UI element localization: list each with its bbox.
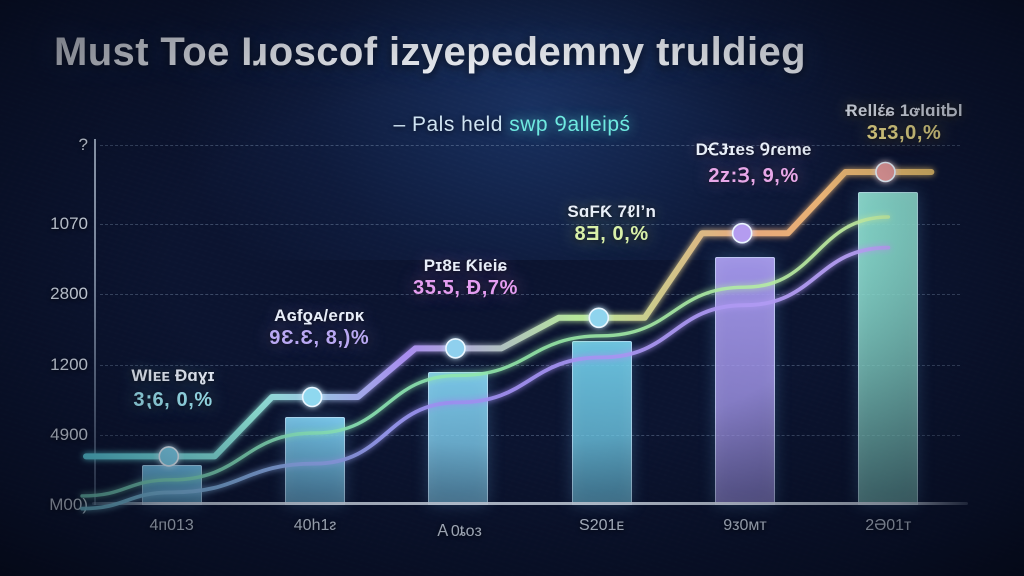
annotation-value: 3Ƽ.Ƽ, Ɖ,7% — [413, 277, 518, 300]
y-axis-tick-label: ? — [79, 135, 88, 155]
data-annotation: DꞒɈɪes Ꝯɾeme2ᴢ:Ɜ, 9,% — [696, 137, 812, 188]
data-point-marker[interactable] — [876, 163, 895, 182]
chart-subtitle: – Pals held swp Ꝯalleipś — [0, 110, 1024, 138]
x-axis-tick-label: Ａ0ȶoᴈ — [435, 517, 482, 541]
data-point-marker[interactable] — [733, 224, 752, 243]
data-point-marker[interactable] — [303, 388, 322, 407]
y-axis-tick-label: M00) — [49, 495, 88, 515]
x-axis-tick-label: 9ᴣ0ᴍᴛ — [723, 517, 766, 535]
y-axis-tick-label: 1200 — [50, 355, 88, 375]
annotation-value: 2ᴢ:Ɜ, 9,% — [696, 161, 812, 188]
page-title: Must Toe Ɩɹoscof izyepedemny truldieg — [54, 30, 984, 75]
data-point-marker[interactable] — [446, 339, 465, 358]
x-axis-tick-label: 40h1ᴤ — [294, 517, 336, 535]
line-overlay — [100, 145, 960, 505]
subtitle-highlight: swp Ꝯalleipś — [509, 113, 630, 136]
annotation-value: 3⁏6, 0,% — [131, 387, 214, 412]
x-axis-tick-label: S201ᴇ — [579, 517, 624, 535]
annotation-label: Aɢfƍᴀ/eɾᴅĸ — [269, 306, 369, 326]
data-annotation: Aɢfƍᴀ/eɾᴅĸ9Ɛ.Ɛ, 8,)% — [269, 306, 369, 350]
subtitle-prefix: – Pals held — [393, 113, 509, 136]
y-axis-tick-label: 1070 — [50, 214, 88, 234]
y-axis-line — [94, 139, 96, 505]
data-annotation: Pɪ8ᴇ Ƙieiɕ3Ƽ.Ƽ, Ɖ,7% — [413, 256, 518, 300]
annotation-label: WIᴇᴇ Ðɑɣɪ — [131, 366, 214, 386]
chart-canvas: Must Toe Ɩɹoscof izyepedemny truldieg – … — [0, 0, 1024, 576]
data-point-marker[interactable] — [589, 308, 608, 327]
x-axis-tick-label: 2Ә01ᴛ — [865, 517, 911, 535]
x-axis-tick-label: 4ᴨ013 — [150, 517, 194, 535]
y-axis-tick-label: 4900 — [50, 425, 88, 445]
annotation-value: 8Ǝ, 0,% — [567, 223, 656, 246]
y-axis-tick-label: 2800 — [50, 284, 88, 304]
step-line-series — [86, 172, 931, 456]
annotation-label: Pɪ8ᴇ Ƙieiɕ — [413, 256, 518, 276]
data-point-marker[interactable] — [159, 447, 178, 466]
annotation-value: 9Ɛ.Ɛ, 8,)% — [269, 327, 369, 350]
data-annotation: WIᴇᴇ Ðɑɣɪ3⁏6, 0,% — [131, 366, 214, 412]
annotation-label: DꞒɈɪes Ꝯɾeme — [696, 137, 812, 160]
plot-area: M00)4900120028001070? — [100, 145, 960, 505]
annotation-label: SɑFƘ 7ℓlʼn — [567, 202, 656, 222]
data-annotation: SɑFƘ 7ℓlʼn8Ǝ, 0,% — [567, 202, 656, 246]
